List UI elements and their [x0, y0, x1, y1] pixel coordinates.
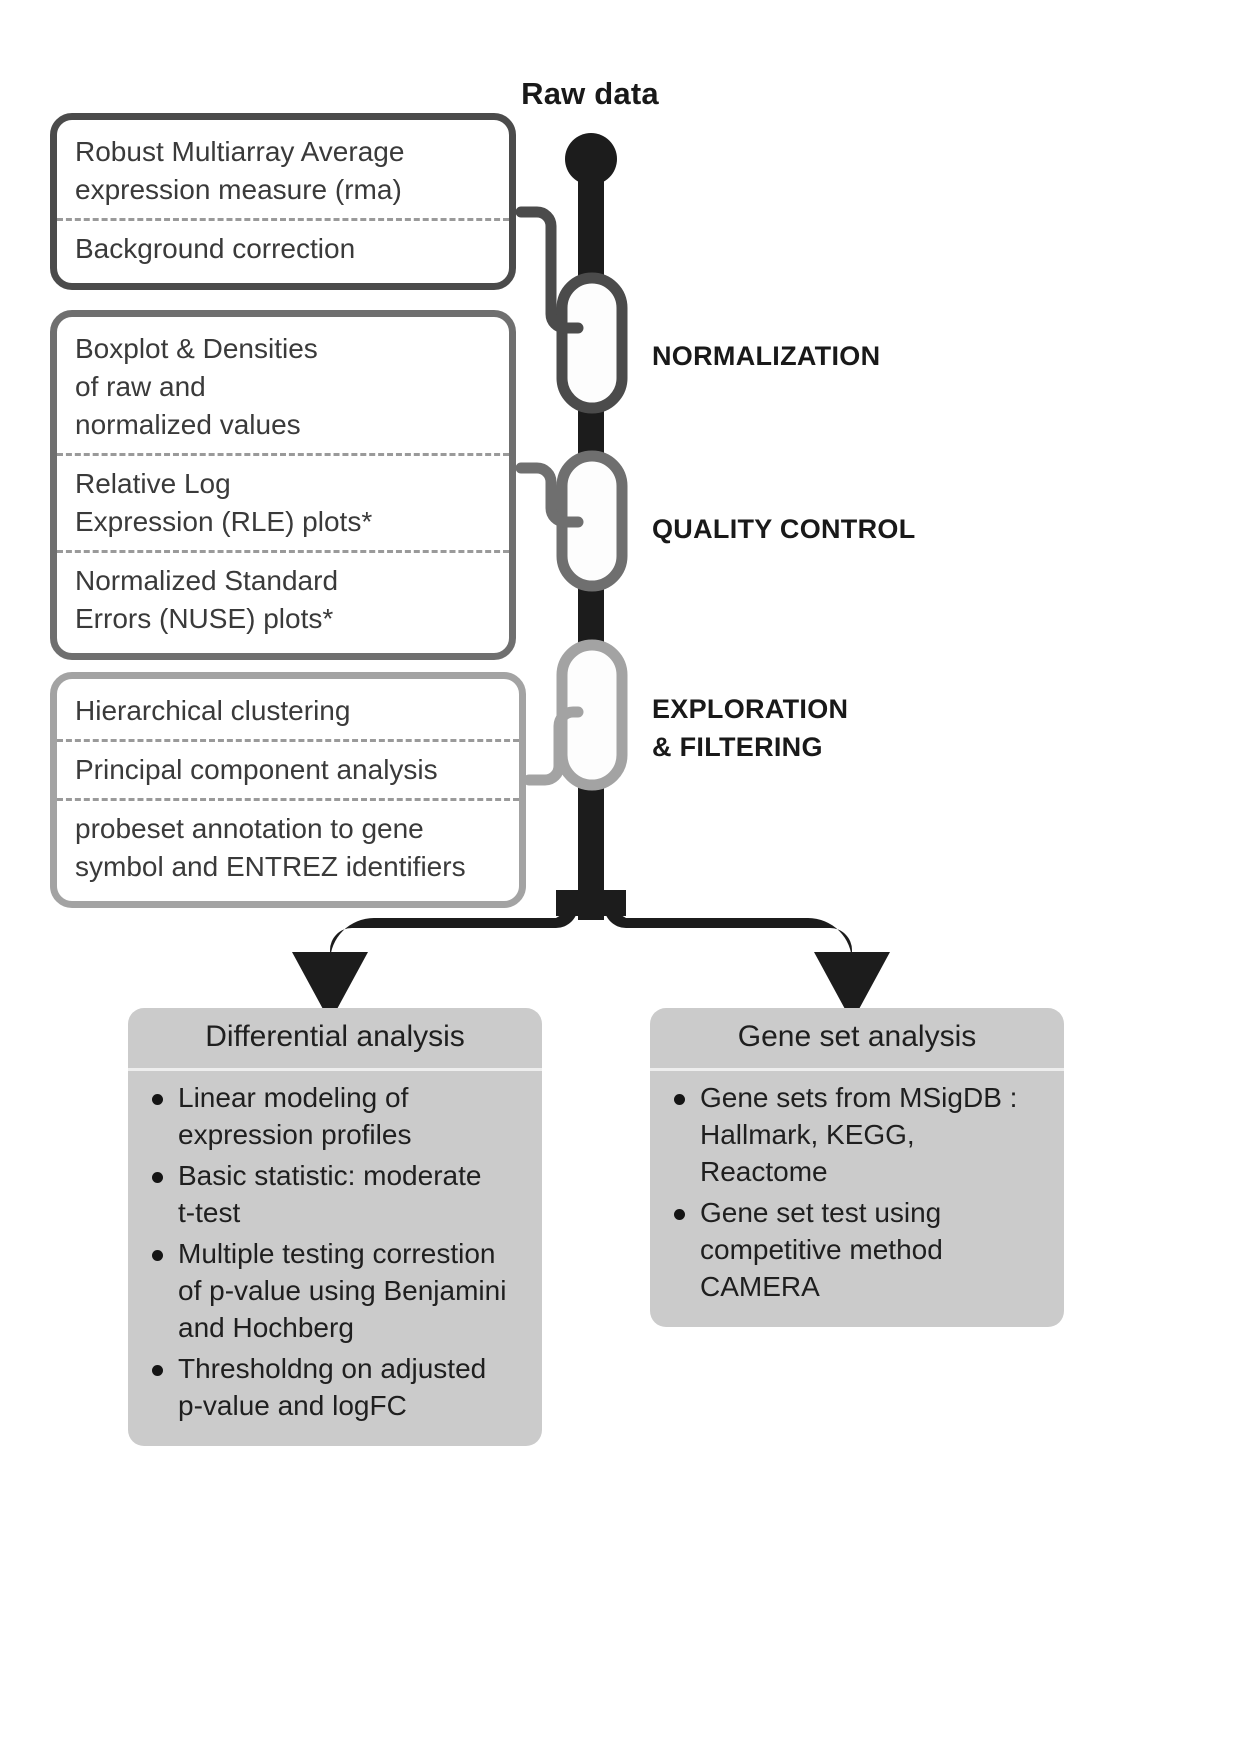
result-box-gene-set-analysis[interactable]: Gene set analysis Gene sets from MSigDB …: [650, 1008, 1064, 1327]
stage-item: Normalized Standard Errors (NUSE) plots*: [57, 550, 509, 647]
stage-label-normalization: NORMALIZATION: [652, 337, 880, 375]
stage-item: Boxplot & Densities of raw and normalize…: [57, 321, 509, 453]
list-item: Basic statistic: moderate t-test: [148, 1157, 528, 1231]
result-bullet-list: Linear modeling of expression profiles B…: [128, 1071, 542, 1446]
result-box-differential-analysis[interactable]: Differential analysis Linear modeling of…: [128, 1008, 542, 1446]
workflow-diagram: Raw data Robust Multiarray Average expre…: [0, 0, 1240, 1753]
stage-label-quality-control: QUALITY CONTROL: [652, 510, 916, 548]
stage-item: Background correction: [57, 218, 509, 277]
spine-trunk: [565, 133, 617, 920]
page-title: Raw data: [430, 76, 750, 112]
stage-panel-normalization[interactable]: Robust Multiarray Average expression mea…: [50, 113, 516, 290]
stage-item: Robust Multiarray Average expression mea…: [57, 124, 509, 218]
chain-link-normalization: [521, 212, 622, 408]
stage-item: Hierarchical clustering: [57, 683, 519, 739]
stage-panel-exploration-filtering[interactable]: Hierarchical clustering Principal compon…: [50, 672, 526, 908]
result-box-title: Differential analysis: [128, 1008, 542, 1071]
result-box-title: Gene set analysis: [650, 1008, 1064, 1071]
stage-item: probeset annotation to gene symbol and E…: [57, 798, 519, 895]
stage-panel-quality-control[interactable]: Boxplot & Densities of raw and normalize…: [50, 310, 516, 660]
chain-link-quality: [521, 456, 622, 586]
chain-link-exploration: [529, 645, 622, 785]
list-item: Multiple testing correstion of p-value u…: [148, 1235, 528, 1346]
list-item: Linear modeling of expression profiles: [148, 1079, 528, 1153]
result-bullet-list: Gene sets from MSigDB : Hallmark, KEGG, …: [650, 1071, 1064, 1327]
list-item: Gene sets from MSigDB : Hallmark, KEGG, …: [670, 1079, 1050, 1190]
fork-arrows: [292, 890, 890, 1022]
stage-item: Relative Log Expression (RLE) plots*: [57, 453, 509, 550]
stage-label-exploration-filtering: EXPLORATION & FILTERING: [652, 690, 848, 766]
stage-item: Principal component analysis: [57, 739, 519, 798]
list-item: Thresholdng on adjusted p-value and logF…: [148, 1350, 528, 1424]
list-item: Gene set test using competitive method C…: [670, 1194, 1050, 1305]
